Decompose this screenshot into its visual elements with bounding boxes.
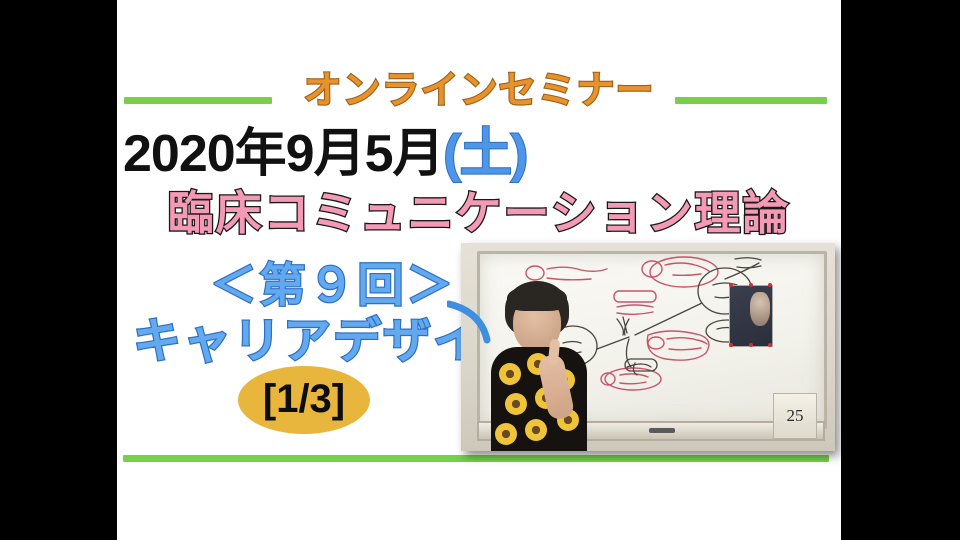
desk-calendar: 25 <box>773 393 817 439</box>
sunflower-motif <box>525 419 547 441</box>
date-weekday: (土) <box>444 125 528 183</box>
black-marker <box>649 428 675 433</box>
poster-pin <box>749 283 753 287</box>
seminar-date: 2020年9月5月(土) <box>123 128 841 180</box>
presenter-video[interactable]: 25 <box>461 243 835 451</box>
green-rule-bottom <box>123 455 829 462</box>
slide-stage: オンラインセミナー 2020年9月5月(土) 臨床コミュニケーション理論 ＜第９… <box>0 0 960 540</box>
part-badge: [1/3] <box>238 366 370 434</box>
sunflower-motif <box>505 393 527 415</box>
poster-portrait <box>750 292 770 326</box>
blue-swoosh-arrow <box>447 300 507 344</box>
calendar-number: 25 <box>787 406 804 426</box>
date-main: 2020年9月5月 <box>123 125 444 183</box>
slide-canvas: オンラインセミナー 2020年9月5月(土) 臨床コミュニケーション理論 ＜第９… <box>117 0 841 540</box>
poster-pin <box>729 343 733 347</box>
video-frame: 25 <box>461 243 835 451</box>
sunflower-motif <box>499 363 521 385</box>
poster-pin <box>768 283 772 287</box>
letterbox-left <box>0 0 117 540</box>
sunflower-motif <box>495 423 517 445</box>
letterbox-right <box>841 0 960 540</box>
wall-poster <box>729 285 773 347</box>
presenter-fringe <box>507 285 567 311</box>
page-title: 臨床コミュニケーション理論 <box>117 190 841 236</box>
poster-pin <box>729 283 733 287</box>
part-badge-label: [1/3] <box>263 379 345 419</box>
seminar-kicker: オンラインセミナー <box>117 72 841 110</box>
poster-pin <box>768 343 772 347</box>
poster-pin <box>749 343 753 347</box>
